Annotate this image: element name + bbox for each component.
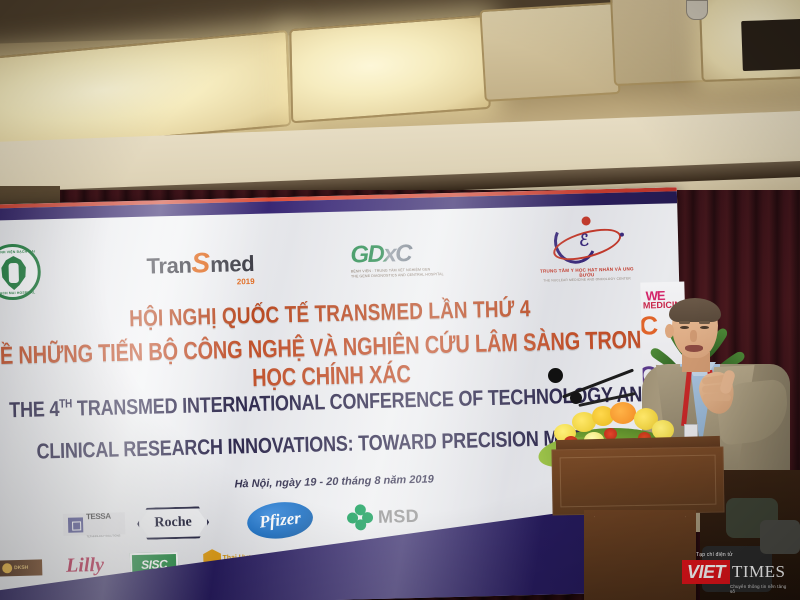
ceiling-light-panel — [479, 2, 620, 102]
sponsor-logo-msd: MSD — [347, 503, 420, 531]
screenshot-root: BỆNH VIỆN BẠCH MAI BACH MAI HOSPITAL Tra… — [0, 0, 800, 600]
viettimes-watermark: Tạp chí điện tử VIET TIMES Chuyên thông … — [678, 552, 790, 594]
speaker-mouth — [685, 345, 703, 352]
av-equipment — [760, 520, 800, 554]
bach-mai-logo-text-vn: BỆNH VIỆN BẠCH MAI — [0, 249, 43, 254]
speaker-finger — [703, 394, 731, 401]
title-en-ordinal: TH — [59, 398, 72, 412]
roche-label: Roche — [139, 508, 208, 538]
watermark-brand-times: TIMES — [732, 562, 786, 582]
title-en-pre: THE 4 — [9, 397, 60, 422]
bach-mai-emblem-icon: BỆNH VIỆN BẠCH MAI BACH MAI HOSPITAL — [0, 243, 41, 300]
ceiling-spotlight-icon — [686, 0, 708, 20]
pfizer-label: Pfizer — [245, 499, 315, 542]
sponsor-logo-roche: Roche — [137, 506, 210, 540]
podium-panel-inset — [560, 455, 717, 508]
podium-front-panel — [551, 447, 724, 516]
bach-mai-leaf-icon — [0, 256, 31, 291]
speaker-eyebrow — [679, 321, 690, 324]
watermark-brand-viet: VIET — [682, 560, 730, 584]
dkpharma-label: DKSH — [14, 565, 28, 571]
electron-dot-icon — [620, 233, 624, 237]
tessa-mark-icon — [68, 517, 83, 532]
atom-orbit-icon: ℰ — [545, 215, 626, 269]
dkpharma-mark-icon — [2, 563, 12, 573]
transmed-word-b: med — [210, 251, 255, 277]
watermark-tagline: Chuyên thông tin nền tảng số — [730, 584, 790, 594]
sponsor-logo-pfizer: Pfizer — [247, 502, 314, 540]
sponsor-logo-lilly: Lilly — [66, 554, 104, 578]
msd-clover-icon — [347, 504, 374, 531]
podium-v-groove — [594, 516, 686, 574]
speaker-hair — [669, 298, 721, 322]
banner-logo-row: BỆNH VIỆN BẠCH MAI BACH MAI HOSPITAL Tra… — [0, 203, 679, 299]
roche-hexagon-icon: Roche — [137, 506, 210, 540]
transmed-year: 2019 — [237, 277, 255, 286]
center-glyph: ℰ — [579, 230, 589, 250]
gdxc-subtitle-en: THE GENE DIAGNOSTICS AND CENTRAL HOSPITA… — [351, 272, 445, 280]
watermark-top-text: Tạp chí điện tử — [696, 552, 733, 558]
gdxc-wordmark: GDxC — [350, 239, 445, 269]
tessa-sublabel: TECHNOLOGY SOLUTIONS — [86, 534, 120, 538]
transmed-word-s: S — [191, 247, 210, 278]
transmed-logo: TranSmed 2019 — [146, 246, 254, 281]
ceiling-light-panel — [289, 15, 490, 124]
nuclear-medicine-center-logo: ℰ TRUNG TÂM Y HỌC HẠT NHÂN VÀ UNG BƯỚU T… — [537, 214, 635, 282]
ceiling-vent — [741, 19, 800, 71]
ceiling — [0, 0, 800, 196]
speaker-ear — [665, 324, 674, 338]
bach-mai-logo-text-en: BACH MAI HOSPITAL — [0, 290, 44, 295]
bach-mai-hospital-logo: BỆNH VIỆN BẠCH MAI BACH MAI HOSPITAL — [0, 243, 41, 300]
sponsor-logo-tessa: TESSA TECHNOLOGY SOLUTIONS — [63, 512, 126, 536]
flower-orange — [610, 402, 636, 424]
nucleus-dot-icon — [581, 216, 590, 225]
sponsor-logo-dkpharma: DKSH — [0, 559, 42, 576]
tessa-label: TESSA — [86, 512, 111, 522]
gdxc-logo: GDxC BỆNH VIỆN - TRUNG TÂM XÉT NGHIỆM GE… — [350, 239, 445, 280]
speaker-eyebrow — [699, 321, 710, 324]
transmed-word-a: Tran — [146, 253, 191, 279]
speaker-nose — [690, 330, 697, 342]
msd-label: MSD — [378, 505, 419, 527]
microphone-icon — [548, 368, 563, 383]
